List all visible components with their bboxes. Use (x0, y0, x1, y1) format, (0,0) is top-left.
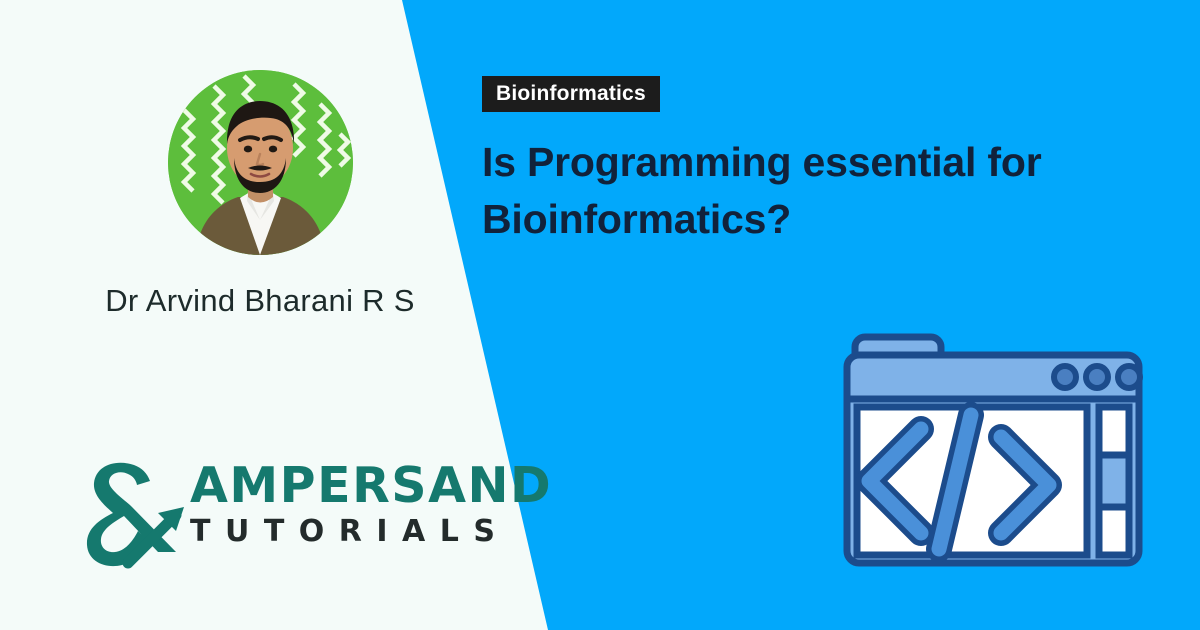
avatar (168, 70, 353, 255)
logo-secondary-word: TUTORIALS (190, 517, 552, 547)
poster-canvas: Dr Arvind Bharani R S AMPERSAND TUTORIAL… (0, 0, 1200, 630)
brand-logo[interactable]: AMPERSAND TUTORIALS (72, 455, 472, 570)
code-browser-window-icon (843, 307, 1143, 569)
avatar-person-photo (168, 70, 353, 255)
category-badge: Bioinformatics (482, 76, 660, 112)
ampersand-arrow-icon (72, 457, 194, 569)
presenter-name: Dr Arvind Bharani R S (0, 283, 520, 319)
logo-primary-word: AMPERSAND (190, 461, 552, 510)
headline-title: Is Programming essential for Bioinformat… (482, 134, 1172, 249)
